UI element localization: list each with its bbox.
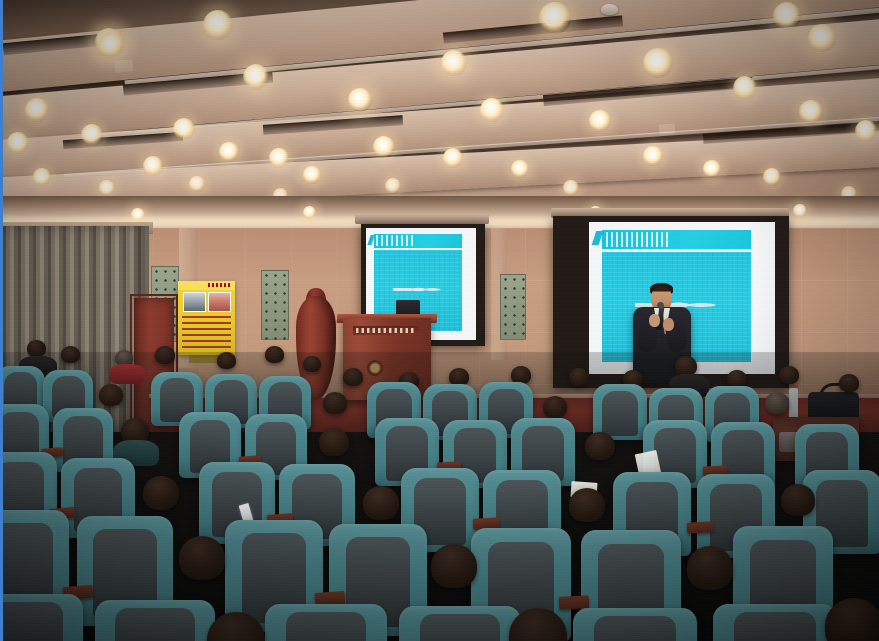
ceiling-downlight bbox=[799, 100, 823, 124]
audience-head bbox=[675, 356, 697, 376]
audience-head bbox=[155, 346, 175, 364]
auditorium-seat[interactable] bbox=[399, 606, 521, 641]
microphone-head bbox=[657, 302, 664, 309]
audience-head bbox=[303, 356, 321, 372]
ceiling-downlight bbox=[589, 110, 611, 132]
ceiling-downlight bbox=[443, 148, 463, 168]
audience-head bbox=[781, 484, 815, 516]
ceiling-downlight bbox=[643, 48, 673, 78]
ceiling-downlight bbox=[733, 76, 757, 100]
ceiling-downlight bbox=[189, 176, 205, 192]
ceiling-downlight bbox=[219, 142, 239, 162]
slide-header-text bbox=[376, 235, 413, 246]
audience-head bbox=[265, 346, 284, 363]
ceiling-downlight bbox=[81, 124, 103, 146]
audience-head bbox=[839, 374, 859, 392]
ceiling-downlight bbox=[348, 88, 372, 112]
acoustic-panel bbox=[261, 270, 289, 340]
ceiling-downlight bbox=[303, 166, 321, 184]
ceiling-diffuser bbox=[115, 59, 134, 73]
podium-nameplate-text bbox=[356, 328, 416, 333]
yellow-standee-poster[interactable] bbox=[178, 281, 235, 355]
poster-image-left bbox=[183, 292, 206, 312]
audience-head bbox=[585, 432, 615, 460]
ceiling-downlight bbox=[143, 156, 163, 176]
slide-figure-row bbox=[393, 283, 442, 296]
audience-head bbox=[61, 346, 80, 363]
ceiling-downlight bbox=[539, 2, 571, 34]
audience-head bbox=[27, 340, 46, 357]
ceiling-downlight bbox=[643, 146, 663, 166]
ceiling-downlight bbox=[373, 136, 395, 158]
audience-head bbox=[179, 536, 225, 580]
ceiling-downlight bbox=[303, 206, 316, 219]
ceiling-downlight bbox=[773, 2, 801, 30]
ceiling-downlight bbox=[855, 120, 877, 142]
smoke-detector-icon bbox=[601, 4, 618, 15]
ceiling-downlight bbox=[98, 32, 124, 58]
ceiling-downlight bbox=[793, 204, 807, 218]
ceiling-downlight bbox=[480, 98, 504, 122]
audience-head bbox=[687, 546, 733, 590]
poster-title-text bbox=[208, 283, 232, 287]
acoustic-panel bbox=[500, 274, 526, 340]
audience-head bbox=[319, 428, 349, 456]
ceiling-downlight bbox=[563, 180, 579, 196]
podium-nameplate bbox=[353, 326, 419, 335]
ceiling-downlight bbox=[25, 98, 49, 122]
seat-armrest bbox=[687, 521, 714, 533]
audience-head bbox=[143, 476, 179, 510]
ceiling-downlight bbox=[703, 160, 721, 178]
audience-head bbox=[543, 396, 567, 418]
audience-head bbox=[779, 366, 799, 384]
ceiling-downlight bbox=[243, 64, 269, 90]
audience-head bbox=[431, 544, 477, 588]
auditorium-seat[interactable] bbox=[713, 604, 837, 641]
ceiling-downlight bbox=[203, 10, 233, 40]
ceiling-downlight bbox=[269, 148, 289, 168]
presenter-left-hand bbox=[649, 314, 660, 327]
auditorium-seat[interactable] bbox=[573, 608, 697, 641]
audience-head bbox=[99, 384, 123, 406]
audience-head bbox=[765, 392, 789, 414]
auditorium-seat[interactable] bbox=[0, 594, 83, 641]
ceiling-downlight bbox=[7, 132, 29, 154]
ceiling-downlight bbox=[33, 168, 51, 186]
audience-head bbox=[569, 368, 589, 386]
audience-shoulders bbox=[109, 364, 145, 384]
slide-header-text bbox=[606, 232, 669, 247]
audience-head bbox=[323, 392, 347, 414]
audience-head bbox=[217, 352, 236, 369]
ceiling-downlight bbox=[173, 118, 195, 140]
audience-head bbox=[343, 368, 363, 386]
audience-head bbox=[363, 486, 399, 520]
ceiling-downlight bbox=[99, 180, 115, 196]
conference-hall-photo bbox=[0, 0, 879, 641]
auditorium-seat[interactable] bbox=[265, 604, 387, 641]
ceiling-downlight bbox=[808, 24, 836, 52]
ceiling-downlight bbox=[441, 50, 467, 76]
screen-valance-left bbox=[355, 214, 489, 224]
presenter-right-hand bbox=[663, 318, 674, 331]
ceiling-downlight bbox=[385, 178, 401, 194]
ceiling-diffuser bbox=[659, 123, 676, 134]
ceiling-downlight bbox=[511, 160, 529, 178]
ceiling-downlight bbox=[763, 168, 781, 186]
poster-body-text bbox=[182, 316, 231, 351]
poster-image-right bbox=[208, 292, 231, 312]
auditorium-seat[interactable] bbox=[95, 600, 215, 641]
audience-head bbox=[569, 488, 605, 522]
ceiling-downlight bbox=[131, 208, 145, 222]
